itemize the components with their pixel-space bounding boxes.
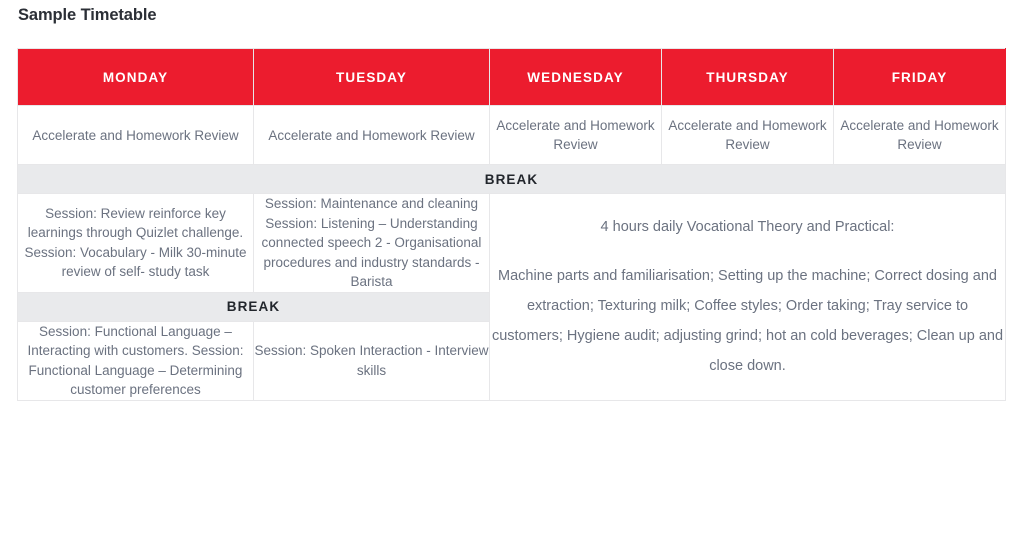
vocational-spacer xyxy=(490,242,1005,261)
cell-session-tuesday-block-2: Session: Spoken Interaction - Interview … xyxy=(254,321,490,400)
table-row-accelerate: Accelerate and Homework Review Accelerat… xyxy=(18,106,1006,165)
cell-accelerate-tuesday: Accelerate and Homework Review xyxy=(254,106,490,165)
cell-session-tuesday-block-1: Session: Maintenance and cleaning Sessio… xyxy=(254,194,490,293)
table-row-session-block-1: Session: Review reinforce key learnings … xyxy=(18,194,1006,293)
day-header-monday: MONDAY xyxy=(18,49,254,106)
vocational-body-text: Machine parts and familiarisation; Setti… xyxy=(490,261,1005,381)
cell-break-all-days: BREAK xyxy=(18,165,1006,194)
cell-accelerate-friday: Accelerate and Homework Review xyxy=(834,106,1006,165)
cell-accelerate-thursday: Accelerate and Homework Review xyxy=(662,106,834,165)
day-header-friday: FRIDAY xyxy=(834,49,1006,106)
timetable-page: Sample Timetable MONDAY TUESDAY WEDNESDA… xyxy=(0,0,1024,541)
cell-accelerate-monday: Accelerate and Homework Review xyxy=(18,106,254,165)
day-header-thursday: THURSDAY xyxy=(662,49,834,106)
table-row-break-1: BREAK xyxy=(18,165,1006,194)
timetable-table: MONDAY TUESDAY WEDNESDAY THURSDAY FRIDAY… xyxy=(17,48,1006,401)
cell-vocational-theory-practical: 4 hours daily Vocational Theory and Prac… xyxy=(490,194,1006,401)
day-header-tuesday: TUESDAY xyxy=(254,49,490,106)
page-title: Sample Timetable xyxy=(18,6,156,25)
cell-session-monday-block-1: Session: Review reinforce key learnings … xyxy=(18,194,254,293)
table-header-row: MONDAY TUESDAY WEDNESDAY THURSDAY FRIDAY xyxy=(18,49,1006,106)
vocational-lead-text: 4 hours daily Vocational Theory and Prac… xyxy=(490,212,1005,242)
cell-accelerate-wednesday: Accelerate and Homework Review xyxy=(490,106,662,165)
day-header-wednesday: WEDNESDAY xyxy=(490,49,662,106)
cell-session-monday-block-2: Session: Functional Language – Interacti… xyxy=(18,321,254,400)
cell-break-mon-tue: BREAK xyxy=(18,292,490,321)
